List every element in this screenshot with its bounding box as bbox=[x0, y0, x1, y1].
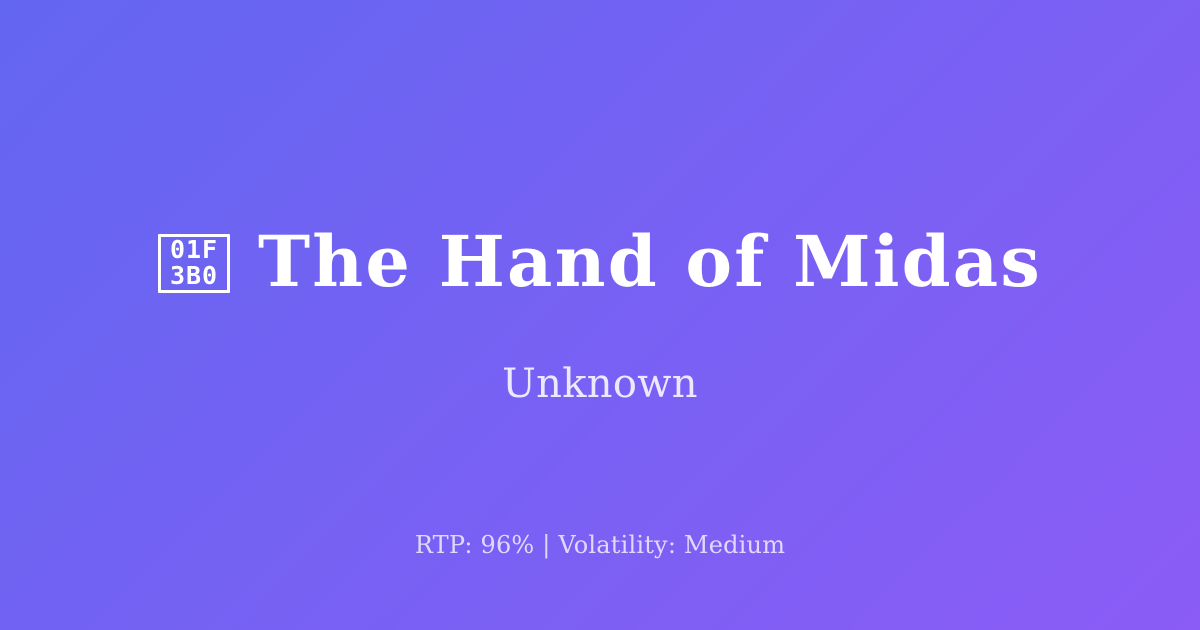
game-preview-card: 01F 3B0 The Hand of Midas Unknown RTP: 9… bbox=[0, 0, 1200, 630]
game-meta-text: RTP: 96% | Volatility: Medium bbox=[415, 531, 785, 559]
game-title: The Hand of Midas bbox=[258, 224, 1042, 300]
game-provider: Unknown bbox=[502, 300, 698, 406]
title-row: 01F 3B0 The Hand of Midas bbox=[0, 224, 1200, 300]
slot-machine-icon: 01F 3B0 bbox=[158, 234, 230, 293]
glyph-hex-bottom: 3B0 bbox=[170, 263, 218, 289]
meta-footer: RTP: 96% | Volatility: Medium bbox=[0, 531, 1200, 560]
glyph-hex-top: 01F bbox=[170, 237, 218, 263]
